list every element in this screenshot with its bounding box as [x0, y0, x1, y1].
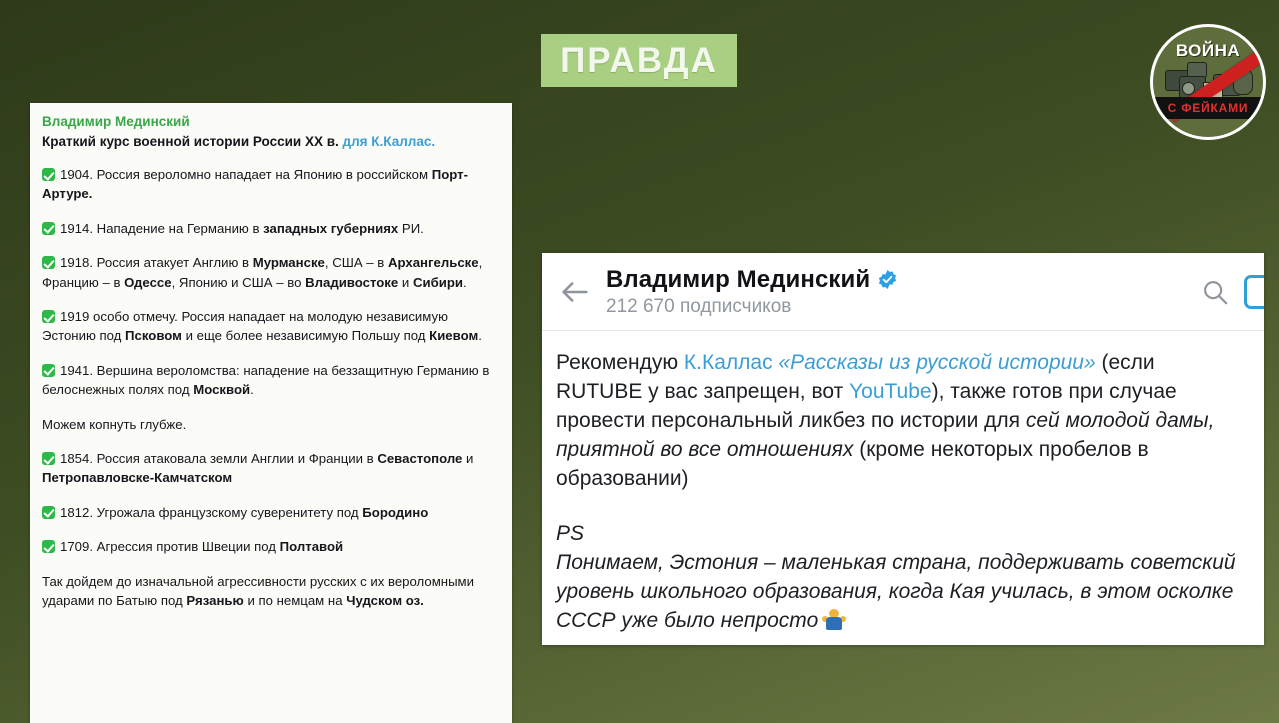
- post-emphasis: Киевом: [429, 328, 478, 343]
- telegram-titles: Владимир Мединский 212 670 подписчиков: [602, 266, 1192, 318]
- war-with-fakes-logo: ВОЙНА С ФЕЙКАМИ: [1150, 24, 1266, 140]
- post-emphasis: Москвой: [193, 382, 250, 397]
- post-emphasis: Одессе: [124, 275, 171, 290]
- pravda-label: ПРАВДА: [560, 41, 718, 81]
- subscriber-count: 212 670 подписчиков: [606, 296, 1192, 318]
- message-link[interactable]: «Рассказы из русской истории»: [778, 351, 1095, 374]
- telegram-header: Владимир Мединский 212 670 подписчиков: [542, 253, 1264, 331]
- channel-name: Владимир Мединский: [606, 266, 870, 294]
- arrow-left-icon[interactable]: [548, 265, 602, 319]
- message-text: Рекомендую: [556, 351, 684, 374]
- post-emphasis: западных губерниях: [263, 221, 398, 236]
- post-text: 1941. Вершина вероломства: нападение на …: [42, 363, 489, 397]
- post-text: и по немцам на: [244, 593, 346, 608]
- post-subtitle-link[interactable]: для К.Каллас.: [343, 134, 436, 149]
- post-emphasis: Рязанью: [186, 593, 243, 608]
- logo-footer: С ФЕЙКАМИ: [1153, 97, 1263, 119]
- ps-text: Понимаем, Эстония – маленькая страна, по…: [556, 548, 1246, 635]
- post-text: 1918. Россия атакует Англию в: [60, 255, 253, 270]
- logo-footer-label: С ФЕЙКАМИ: [1168, 101, 1249, 115]
- shrug-emoji: [822, 609, 846, 631]
- pravda-stamp: ПРАВДА: [541, 34, 737, 87]
- post-text: и: [462, 451, 473, 466]
- telegram-header-actions: [1192, 269, 1258, 315]
- post-subtitle: Краткий курс военной истории России XX в…: [42, 132, 500, 151]
- post-text: 1709. Агрессия против Швеции под: [60, 539, 280, 554]
- post-text: 1914. Нападение на Германию в: [60, 221, 263, 236]
- bookmark-icon[interactable]: [1244, 275, 1264, 309]
- post-text: , Японию и США – во: [172, 275, 306, 290]
- post-text: 1904. Россия вероломно нападает на Япони…: [60, 167, 432, 182]
- telegram-ps-block: PS Понимаем, Эстония – маленькая страна,…: [556, 519, 1246, 635]
- post-text: и еще более независимую Польшу под: [182, 328, 429, 343]
- post-emphasis: Севастополе: [377, 451, 462, 466]
- channel-name-row: Владимир Мединский: [606, 266, 1192, 294]
- message-link[interactable]: YouTube: [849, 380, 932, 403]
- post-text: Можем копнуть глубже.: [42, 417, 186, 432]
- message-link[interactable]: К.Каллас: [684, 351, 779, 374]
- post-emphasis: Мурманске: [253, 255, 325, 270]
- post-text: и: [398, 275, 413, 290]
- check-mark-icon: [42, 256, 55, 269]
- post-emphasis: Архангельске: [388, 255, 479, 270]
- post-panel: Владимир Мединский Краткий курс военной …: [30, 103, 512, 723]
- post-paragraph: Можем копнуть глубже.: [42, 415, 500, 434]
- post-emphasis: Псковом: [125, 328, 182, 343]
- post-items-list: 1904. Россия вероломно нападает на Япони…: [42, 165, 500, 611]
- post-checked-item: 1914. Нападение на Германию в западных г…: [42, 219, 500, 238]
- post-checked-item: 1941. Вершина вероломства: нападение на …: [42, 361, 500, 400]
- post-text: 1854. Россия атаковала земли Англии и Фр…: [60, 451, 377, 466]
- check-mark-icon: [42, 540, 55, 553]
- post-author: Владимир Мединский: [42, 113, 500, 131]
- post-checked-item: 1709. Агрессия против Швеции под Полтаво…: [42, 537, 500, 556]
- post-emphasis: Сибири: [413, 275, 463, 290]
- post-text: РИ.: [398, 221, 424, 236]
- post-checked-item: 1918. Россия атакует Англию в Мурманске,…: [42, 253, 500, 292]
- post-text: , США – в: [325, 255, 388, 270]
- post-paragraph: Так дойдем до изначальной агрессивности …: [42, 572, 500, 611]
- post-checked-item: 1919 особо отмечу. Россия нападает на мо…: [42, 307, 500, 346]
- logo-inner: ВОЙНА С ФЕЙКАМИ: [1153, 27, 1263, 137]
- post-text: 1812. Угрожала французскому суверенитету…: [60, 505, 362, 520]
- telegram-screenshot-panel: Владимир Мединский 212 670 подписчиков Р…: [542, 253, 1264, 645]
- post-text: .: [478, 328, 482, 343]
- post-text: .: [250, 382, 254, 397]
- check-mark-icon: [42, 364, 55, 377]
- telegram-message-text: Рекомендую К.Каллас «Рассказы из русской…: [556, 348, 1246, 493]
- post-checked-item: 1904. Россия вероломно нападает на Япони…: [42, 165, 500, 204]
- verified-badge-icon: [877, 269, 898, 290]
- post-emphasis: Владивостоке: [305, 275, 398, 290]
- post-checked-item: 1812. Угрожала французскому суверенитету…: [42, 503, 500, 522]
- check-mark-icon: [42, 310, 55, 323]
- check-mark-icon: [42, 452, 55, 465]
- telegram-message-body: Рекомендую К.Каллас «Рассказы из русской…: [542, 331, 1264, 635]
- ps-label: PS: [556, 519, 1246, 548]
- check-mark-icon: [42, 222, 55, 235]
- check-mark-icon: [42, 506, 55, 519]
- ps-text-content: Понимаем, Эстония – маленькая страна, по…: [556, 551, 1236, 632]
- post-emphasis: Полтавой: [280, 539, 343, 554]
- post-emphasis: Бородино: [362, 505, 428, 520]
- post-text: .: [463, 275, 467, 290]
- post-emphasis: Чудском оз.: [346, 593, 424, 608]
- post-emphasis: Петропавловске-Камчатском: [42, 470, 232, 485]
- check-mark-icon: [42, 168, 55, 181]
- search-icon[interactable]: [1192, 269, 1238, 315]
- post-checked-item: 1854. Россия атаковала земли Англии и Фр…: [42, 449, 500, 488]
- post-subtitle-text: Краткий курс военной истории России XX в…: [42, 134, 343, 149]
